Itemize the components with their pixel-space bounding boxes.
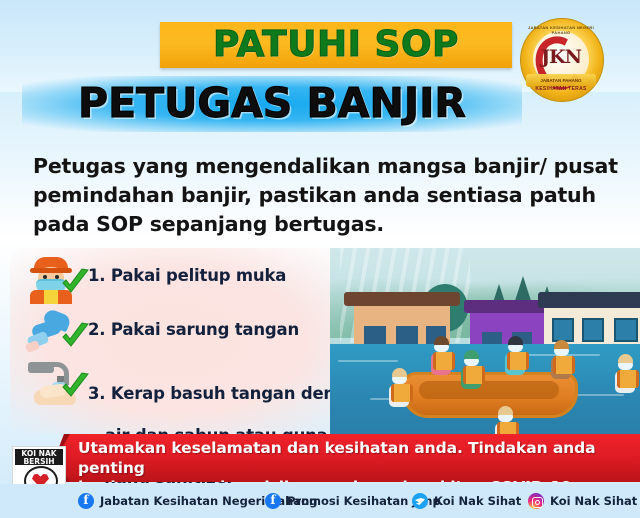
house-right-window-2 [582,318,604,342]
water-wave [338,360,398,362]
life-vest-icon [463,366,485,384]
face-mask-icon [554,349,569,356]
step-1-text: 1. Pakai pelitup muka [88,256,286,286]
intro-line-3: pada SOP sepanjang bertugas. [33,210,618,239]
life-vest-icon [391,384,413,402]
step-1-label: Pakai pelitup muka [111,266,286,285]
handwashing-faucet-icon [26,360,88,406]
house-left-roof [344,292,460,306]
boat-interior [419,381,559,399]
social-handle: Koi Nak Sihat [434,494,521,508]
face-mask-icon [498,415,513,422]
face-mask-icon [434,345,449,352]
step-2-number: 2. [88,320,105,339]
badge-top-text: KOI NAKBERSIH [15,449,63,465]
twitter-icon[interactable] [412,493,428,509]
intro-line-2: pemindahan banjir, pastikan anda sentias… [33,181,618,210]
rescuer-standing-2 [502,336,528,375]
face-mask-icon [618,363,633,370]
rescuer-in-water-right [612,354,638,393]
flood-rescue-scene [330,248,640,440]
intro-paragraph: Petugas yang mengendalikan mangsa banjir… [33,152,618,239]
rescuer-in-water-left [386,368,412,407]
social-item-twitter[interactable]: Koi Nak Sihat [412,493,521,509]
title-line-2: PETUGAS BANJIR [22,74,522,132]
step-1-number: 1. [88,266,105,285]
green-check-icon [60,322,90,352]
green-check-icon [60,372,90,402]
face-mask-icon [392,377,407,384]
house-right-window-1 [552,318,574,342]
title-line-1: PATUHI SOP [160,18,512,72]
step-3-number: 3. [88,384,105,403]
child-in-boat [458,350,484,389]
step-item-2: 2. Pakai sarung tangan [26,310,299,356]
safety-message-banner: Utamakan keselamatan dan kesihatan anda.… [46,434,640,482]
green-check-icon [60,268,90,298]
poster-root: PATUHI SOP PETUGAS BANJIR JABATAN KESIHA… [0,0,640,518]
badge-top-line-2: BERSIH [23,457,54,466]
social-item-instagram[interactable]: Koi Nak Sihat [528,493,637,509]
life-vest-icon [617,370,639,388]
facebook-icon[interactable] [265,493,281,509]
face-mask-icon [464,359,479,366]
jkn-logo: JABATAN KESIHATAN NEGERI PAHANG JKN JABA… [520,18,602,100]
facebook-icon[interactable] [78,493,94,509]
logo-arc-bottom-text: KESIHATAN TERAS [520,86,602,92]
step-2-label: Pakai sarung tangan [111,320,299,339]
rescuer-standing-1 [428,336,454,375]
masked-worker-icon [26,256,88,302]
social-handle: Koi Nak Sihat [550,494,637,508]
house-right-roof [538,292,640,308]
logo-arc-top-text: JABATAN KESIHATAN NEGERI PAHANG [520,25,602,35]
life-vest-icon [433,352,455,370]
gloves-icon [26,310,88,356]
step-2-text: 2. Pakai sarung tangan [88,310,299,340]
logo-center-text: JKN [520,46,602,68]
house-right-window-3 [614,318,638,342]
life-vest-icon [553,356,575,374]
instagram-icon[interactable] [528,493,544,509]
step-item-1: 1. Pakai pelitup muka [26,256,286,302]
face-mask-icon [508,345,523,352]
intro-line-1: Petugas yang mengendalikan mangsa banjir… [33,152,618,181]
social-media-bar: Jabatan Kesihatan Negeri Pahang Promosi … [0,484,640,518]
life-vest-icon [507,352,529,370]
banner-line-1: Utamakan keselamatan dan kesihatan anda.… [78,439,630,478]
step-3-line-1: 3. Kerap basuh tangan dengan [88,383,369,404]
rescuer-standing-3 [548,340,574,379]
worker-vest [44,290,58,304]
poster-header: PATUHI SOP PETUGAS BANJIR JABATAN KESIHA… [0,0,640,140]
